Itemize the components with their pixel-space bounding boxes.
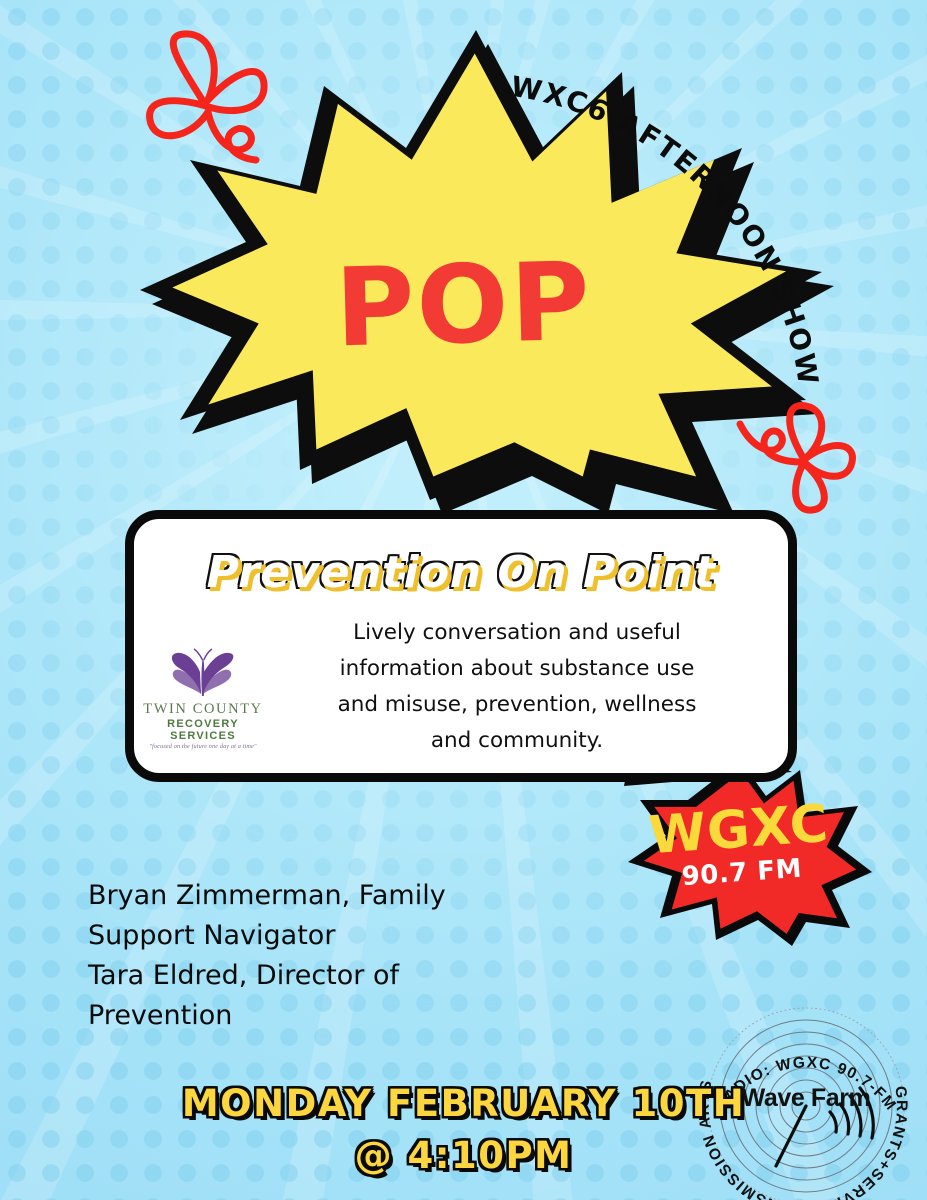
description-line: and community.: [274, 723, 760, 759]
logo-tagline: "focused on the future one day at a time…: [142, 743, 264, 750]
guest-line: Prevention: [88, 996, 608, 1036]
poster-canvas: WXC6 AFTERNOON SHOW WITH KIERAN RILEY RA…: [0, 0, 927, 1200]
butterfly-icon: [167, 648, 239, 700]
logo-line-1: TWIN COUNTY: [142, 701, 264, 718]
station-identity: WGXC 90.7 FM: [637, 799, 842, 895]
butterfly-flourish-icon: [740, 406, 852, 511]
station-callsign: WGXC: [637, 799, 840, 863]
guest-list: Bryan Zimmerman, Family Support Navigato…: [88, 876, 608, 1036]
twin-county-logo: TWIN COUNTY RECOVERY SERVICES "focused o…: [142, 648, 264, 752]
logo-line-2: RECOVERY SERVICES: [142, 718, 264, 742]
show-title: Prevention On Point: [134, 547, 788, 598]
description-line: Lively conversation and useful: [274, 615, 760, 651]
wave-farm-logo: Wave Farm: [700, 1000, 912, 1200]
description-line: and misuse, prevention, wellness: [274, 687, 760, 723]
description-line: information about substance use: [274, 651, 760, 687]
guest-line: Bryan Zimmerman, Family: [88, 876, 608, 916]
butterfly-flourish-icon: [150, 34, 265, 160]
guest-line: Support Navigator: [88, 916, 608, 956]
show-description: Lively conversation and useful informati…: [274, 615, 760, 759]
wave-farm-name: Wave Farm: [700, 1084, 912, 1113]
guest-line: Tara Eldred, Director of: [88, 956, 608, 996]
